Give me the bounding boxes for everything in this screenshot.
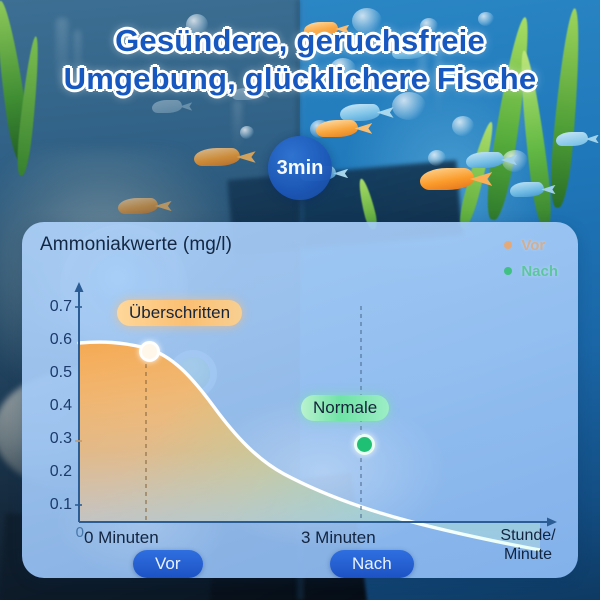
fish (340, 104, 380, 121)
data-point-marker-vor (139, 341, 160, 362)
headline-line-2: Umgebung, glücklichere Fische (0, 60, 600, 98)
product-infographic: Gesündere, geruchsfreie Umgebung, glückl… (0, 0, 600, 600)
timer-badge-label: 3min (277, 157, 324, 180)
fish (556, 132, 588, 146)
x-tick-label-3min: 3 Minuten (301, 528, 376, 548)
timer-badge: 3min (268, 136, 332, 200)
fish (510, 182, 544, 197)
origin-label: 0 (50, 524, 84, 541)
y-tick-label: 0.3 (38, 430, 72, 448)
bubble (428, 150, 446, 166)
chart-plot (22, 222, 578, 578)
annotation-normal: Normale (301, 395, 389, 421)
y-tick-label: 0.2 (38, 463, 72, 481)
fish (152, 100, 182, 113)
x-axis-title: Stunde/ Minute (484, 526, 572, 564)
bubble (240, 126, 254, 139)
annotation-exceeded: Überschritten (117, 300, 242, 326)
y-tick-label: 0.5 (38, 364, 72, 382)
fish-orange (420, 168, 474, 190)
x-axis-title-line-1: Stunde/ (484, 526, 572, 545)
fish-orange (316, 120, 358, 137)
y-axis-arrow (75, 282, 84, 292)
x-pill-nach[interactable]: Nach (330, 550, 414, 578)
bubble (452, 116, 474, 136)
chart-card: Ammoniakwerte (mg/l) Vor Nach (22, 222, 578, 578)
headline-line-1: Gesündere, geruchsfreie (0, 22, 600, 60)
data-point-marker-nach (354, 434, 375, 455)
fish-orange (118, 198, 158, 214)
x-axis-title-line-2: Minute (484, 545, 572, 564)
fish (466, 152, 504, 168)
y-tick-label: 0.6 (38, 331, 72, 349)
y-tick-label: 0.7 (38, 298, 72, 316)
y-tick-label: 0.4 (38, 397, 72, 415)
x-tick-label-0min: 0 Minuten (84, 528, 159, 548)
glass-streak (233, 100, 242, 152)
chart-area-haze (79, 342, 540, 550)
y-tick-label: 0.1 (38, 496, 72, 514)
x-pill-vor[interactable]: Vor (133, 550, 203, 578)
page-title: Gesündere, geruchsfreie Umgebung, glückl… (0, 22, 600, 98)
fish-orange (194, 148, 240, 166)
